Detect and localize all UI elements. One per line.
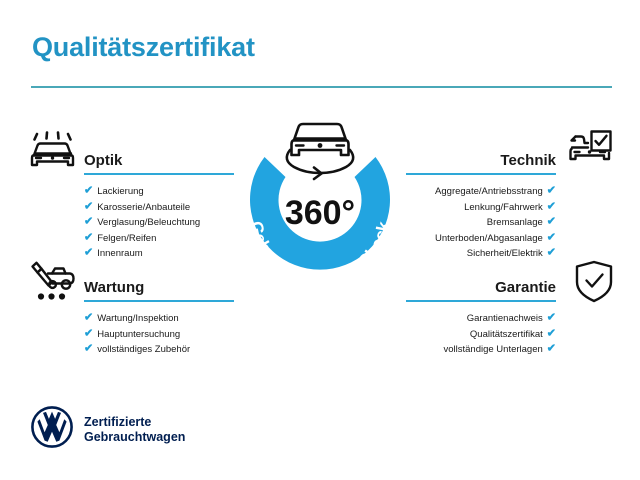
check-icon: ✔: [547, 248, 556, 259]
list-item: ✔ Verglasung/Beleuchtung: [84, 215, 234, 231]
list-item: ✔ Lackierung: [84, 184, 234, 200]
section-title: Technik: [500, 153, 556, 169]
shield-check-icon: [572, 259, 616, 310]
checklist-technik: Aggregate/Antriebsstrang ✔ Lenkung/Fahrw…: [406, 184, 556, 262]
brand-lockup: Zertifizierte Gebrauchtwagen: [30, 405, 185, 454]
list-item: Bremsanlage ✔: [406, 215, 556, 231]
checklist-wartung: ✔ Wartung/Inspektion ✔ Hauptuntersuchung…: [84, 311, 234, 358]
section-title: Garantie: [495, 280, 556, 296]
list-item: ✔ Hauptuntersuchung: [84, 327, 234, 343]
car-checkbox-icon: [566, 129, 614, 178]
list-item-label: Lenkung/Fahrwerk: [464, 200, 543, 216]
list-item-label: vollständige Unterlagen: [443, 342, 542, 358]
section-divider: [84, 300, 234, 302]
list-item: Qualitätszertifikat ✔: [406, 327, 556, 343]
check-icon: ✔: [84, 248, 93, 259]
check-icon: ✔: [84, 201, 93, 212]
section-title: Optik: [84, 153, 122, 169]
vw-logo: [30, 405, 74, 454]
list-item: Aggregate/Antriebsstrang ✔: [406, 184, 556, 200]
page-title: Qualitätszertifikat: [32, 32, 255, 63]
list-item-label: Lackierung: [97, 184, 143, 200]
section-header-technik: Technik: [406, 143, 556, 169]
section-technik: Technik Aggregate/Antriebsstrang ✔ Lenku…: [406, 143, 556, 262]
badge-center-label: 360°: [285, 194, 355, 232]
car-service-tool-icon: [28, 261, 76, 310]
list-item-label: Bremsanlage: [487, 215, 543, 231]
list-item-label: Aggregate/Antriebsstrang: [435, 184, 543, 200]
check-icon: ✔: [84, 313, 93, 324]
check-icon: ✔: [84, 328, 93, 339]
list-item-label: Innenraum: [97, 246, 142, 262]
list-item: Garantienachweis ✔: [406, 311, 556, 327]
list-item: ✔ vollständiges Zubehör: [84, 342, 234, 358]
list-item-label: Felgen/Reifen: [97, 231, 156, 247]
section-header-garantie: Garantie: [406, 270, 556, 296]
check-icon: ✔: [84, 186, 93, 197]
check-icon: ✔: [84, 232, 93, 243]
list-item-label: Verglasung/Beleuchtung: [97, 215, 200, 231]
list-item-label: Qualitätszertifikat: [470, 327, 543, 343]
check-icon: ✔: [547, 232, 556, 243]
list-item-label: vollständiges Zubehör: [97, 342, 190, 358]
list-item: Lenkung/Fahrwerk ✔: [406, 200, 556, 216]
check-icon: ✔: [547, 186, 556, 197]
section-optik: Optik ✔ Lackierung ✔ Karosserie/Anbautei…: [84, 143, 234, 262]
list-item: Unterboden/Abgasanlage ✔: [406, 231, 556, 247]
list-item: Sicherheit/Elektrik ✔: [406, 246, 556, 262]
check-icon: ✔: [547, 328, 556, 339]
list-item-label: Wartung/Inspektion: [97, 311, 179, 327]
list-item-label: Hauptuntersuchung: [97, 327, 180, 343]
car-rotate-icon: [272, 110, 368, 187]
checklist-garantie: Garantienachweis ✔ Qualitätszertifikat ✔…: [406, 311, 556, 358]
list-item-label: Sicherheit/Elektrik: [467, 246, 543, 262]
check-icon: ✔: [84, 344, 93, 355]
list-item: ✔ Innenraum: [84, 246, 234, 262]
car-shine-icon: [28, 131, 76, 178]
check-icon: ✔: [547, 313, 556, 324]
section-divider: [406, 300, 556, 302]
check-icon: ✔: [547, 344, 556, 355]
section-header-wartung: Wartung: [84, 270, 234, 296]
list-item-label: Karosserie/Anbauteile: [97, 200, 190, 216]
section-wartung: Wartung ✔ Wartung/Inspektion ✔ Hauptunte…: [84, 270, 234, 358]
section-header-optik: Optik: [84, 143, 234, 169]
list-item: ✔ Wartung/Inspektion: [84, 311, 234, 327]
list-item-label: Garantienachweis: [467, 311, 543, 327]
list-item: ✔ Karosserie/Anbauteile: [84, 200, 234, 216]
brand-line-1: Zertifizierte: [84, 415, 151, 429]
checklist-optik: ✔ Lackierung ✔ Karosserie/Anbauteile ✔ V…: [84, 184, 234, 262]
section-divider: [84, 173, 234, 175]
check-icon: ✔: [547, 201, 556, 212]
brand-text: Zertifizierte Gebrauchtwagen: [84, 415, 185, 445]
badge-360-gebrauchtwagen-check: Gebrauchtwagen-Check 360°: [225, 113, 415, 303]
check-icon: ✔: [547, 217, 556, 228]
list-item: vollständige Unterlagen ✔: [406, 342, 556, 358]
list-item: ✔ Felgen/Reifen: [84, 231, 234, 247]
section-garantie: Garantie Garantienachweis ✔ Qualitätszer…: [406, 270, 556, 358]
title-divider: [31, 86, 612, 88]
list-item-label: Unterboden/Abgasanlage: [435, 231, 543, 247]
section-title: Wartung: [84, 280, 144, 296]
brand-line-2: Gebrauchtwagen: [84, 430, 185, 444]
check-icon: ✔: [84, 217, 93, 228]
section-divider: [406, 173, 556, 175]
